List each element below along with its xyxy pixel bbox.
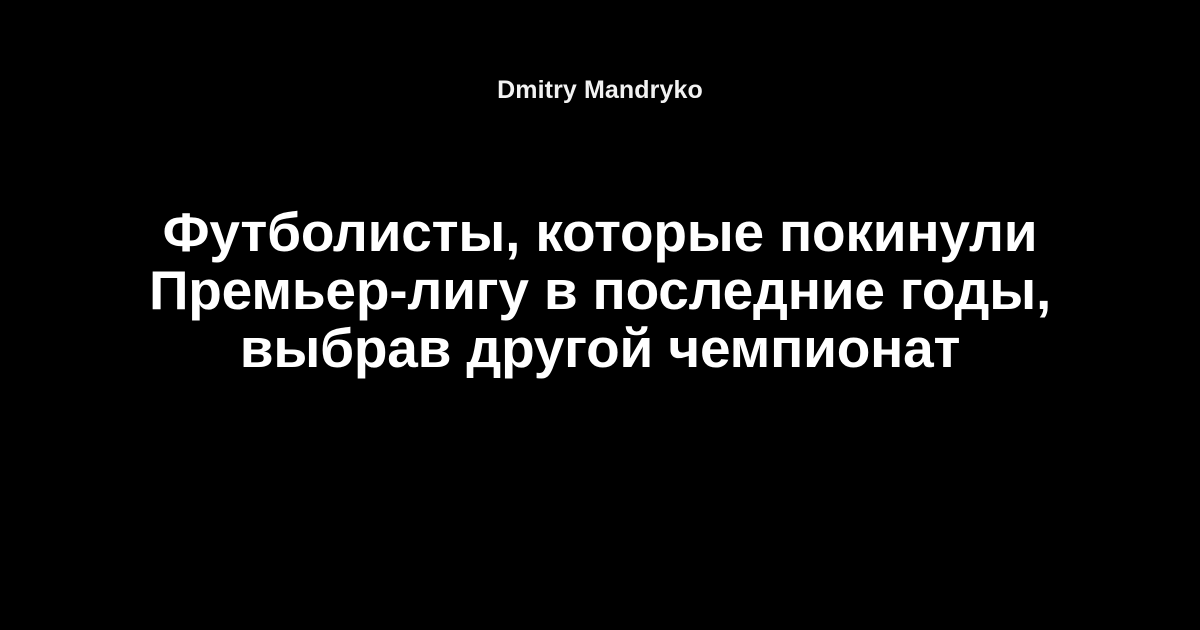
- author-name: Dmitry Mandryko: [497, 78, 703, 103]
- headline-line-2: Премьер-лигу в последние годы,: [100, 261, 1100, 319]
- author-row: Dmitry Mandryko: [0, 78, 1200, 103]
- headline-line-3: выбрав другой чемпионат: [100, 319, 1100, 377]
- article-preview-card: Dmitry Mandryko Футболисты, которые поки…: [0, 0, 1200, 630]
- headline-line-1: Футболисты, которые покинули: [100, 203, 1100, 261]
- headline: Футболисты, которые покинули Премьер-лиг…: [100, 203, 1100, 377]
